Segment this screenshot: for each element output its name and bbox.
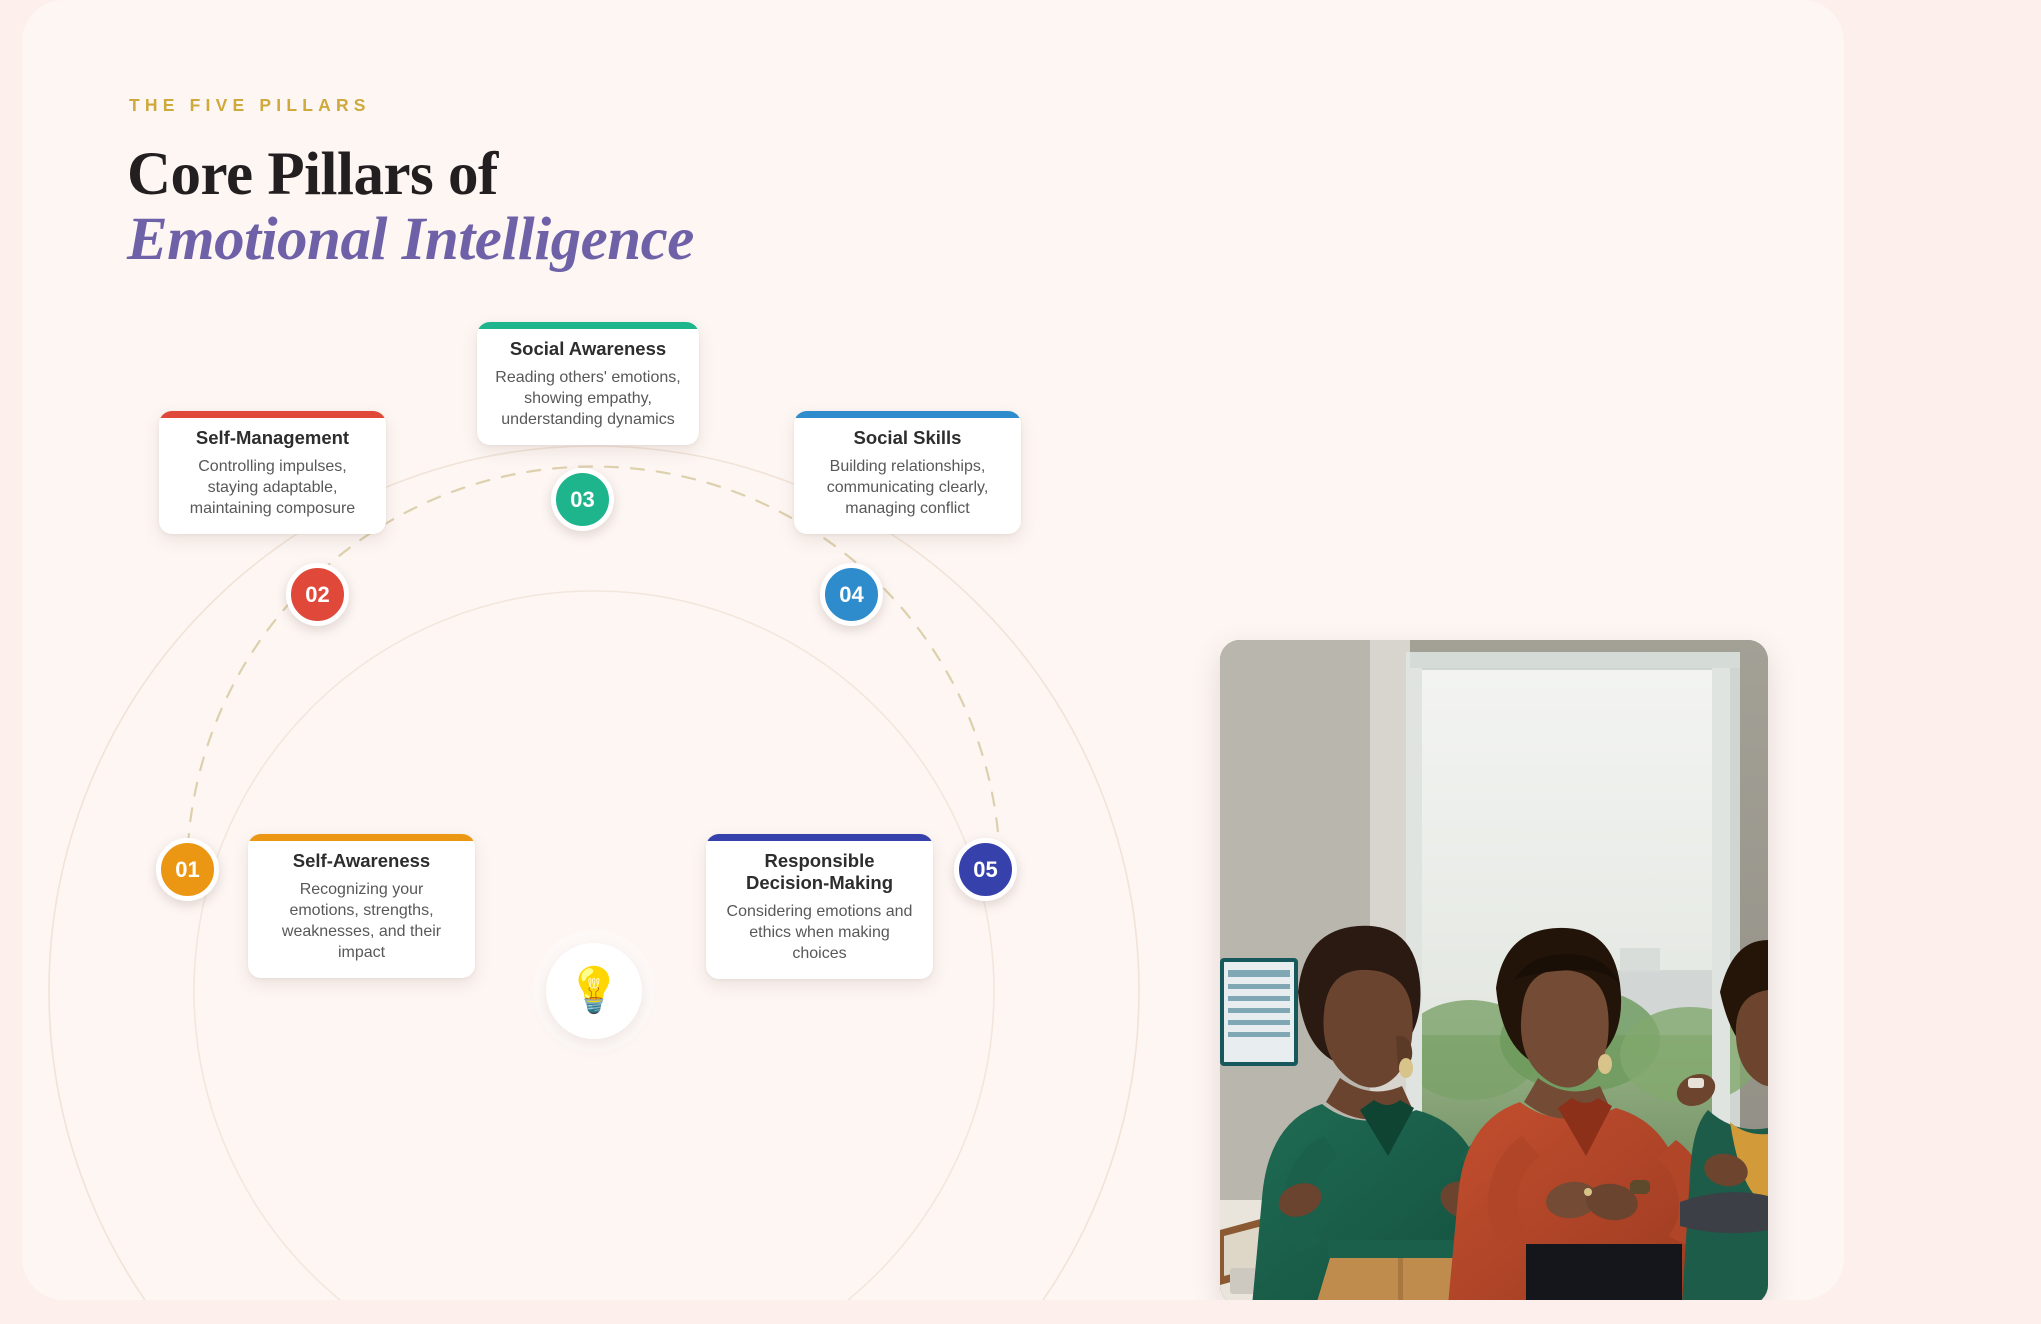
badge-number: 03 xyxy=(570,487,594,513)
card-accent-bar xyxy=(477,322,699,329)
card-description: Controlling impulses, staying adaptable,… xyxy=(174,456,371,519)
card-accent-bar xyxy=(794,411,1021,418)
office-photo xyxy=(1220,640,1768,1300)
pillar-card-self-awareness[interactable]: Self-Awareness Recognizing your emotions… xyxy=(248,834,475,978)
pillar-badge-05[interactable]: 05 xyxy=(954,838,1017,901)
card-description: Considering emotions and ethics when mak… xyxy=(721,901,918,964)
card-title: Social Awareness xyxy=(492,338,684,360)
eyebrow-label: THE FIVE PILLARS xyxy=(129,95,371,116)
card-description: Building relationships, communicating cl… xyxy=(809,456,1006,519)
card-description: Recognizing your emotions, strengths, we… xyxy=(263,879,460,963)
card-accent-bar xyxy=(159,411,386,418)
pillar-badge-02[interactable]: 02 xyxy=(286,563,349,626)
badge-number: 05 xyxy=(973,857,997,883)
card-accent-bar xyxy=(706,834,933,841)
pillar-badge-04[interactable]: 04 xyxy=(820,563,883,626)
card-description: Reading others' emotions, showing empath… xyxy=(492,367,684,430)
card-title: Responsible Decision-Making xyxy=(721,850,918,894)
pillar-card-self-management[interactable]: Self-Management Controlling impulses, st… xyxy=(159,411,386,534)
card-title: Self-Awareness xyxy=(263,850,460,872)
badge-number: 04 xyxy=(839,582,863,608)
pillar-badge-01[interactable]: 01 xyxy=(156,838,219,901)
lightbulb-icon: 💡 xyxy=(546,943,642,1039)
pillar-badge-03[interactable]: 03 xyxy=(551,468,614,531)
page-title-line1: Core Pillars of xyxy=(127,140,498,210)
badge-number: 01 xyxy=(175,857,199,883)
pillar-card-social-skills[interactable]: Social Skills Building relationships, co… xyxy=(794,411,1021,534)
card-title: Self-Management xyxy=(174,427,371,449)
card-accent-bar xyxy=(248,834,475,841)
pillar-card-responsible-decision-making[interactable]: Responsible Decision-Making Considering … xyxy=(706,834,933,979)
slide-canvas: THE FIVE PILLARS Core Pillars of Emotion… xyxy=(22,0,1844,1300)
card-title: Social Skills xyxy=(809,427,1006,449)
pillar-card-social-awareness[interactable]: Social Awareness Reading others' emotion… xyxy=(477,322,699,445)
page-title-line2: Emotional Intelligence xyxy=(127,205,694,275)
badge-number: 02 xyxy=(305,582,329,608)
